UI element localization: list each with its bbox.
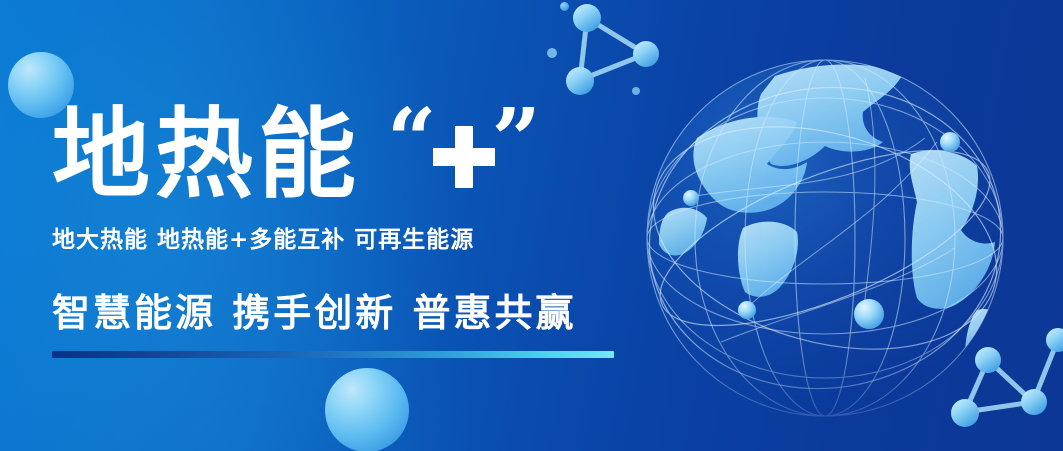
banner-text-block: 地热能 “ ” 地大热能 地热能+多能互补 可再生能源 智慧能源 携手创新 普惠… <box>52 84 652 358</box>
headline: 地热能 “ ” <box>52 84 652 204</box>
plus-icon <box>433 126 495 188</box>
wireframe-globe <box>625 42 1025 442</box>
headline-main-text: 地热能 <box>52 106 361 204</box>
tagline: 智慧能源 携手创新 普惠共赢 <box>52 282 652 337</box>
accent-underline <box>52 351 614 358</box>
promo-banner: 地热能 “ ” 地大热能 地热能+多能互补 可再生能源 智慧能源 携手创新 普惠… <box>0 0 1063 451</box>
subtitle: 地大热能 地热能+多能互补 可再生能源 <box>52 220 652 254</box>
headline-plus-group: “ ” <box>387 100 537 204</box>
quote-open-mark: “ <box>387 98 436 184</box>
decor-sphere-bottom <box>325 368 409 451</box>
quote-close-mark: ” <box>492 98 541 184</box>
